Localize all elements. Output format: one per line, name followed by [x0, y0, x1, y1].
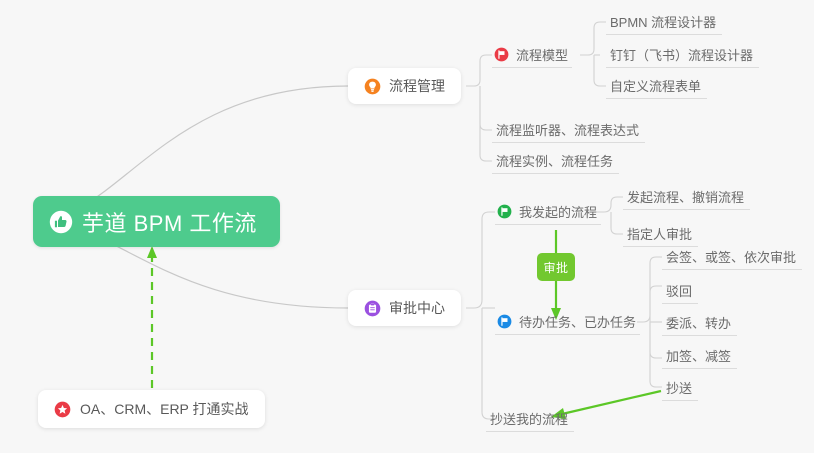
branch-node-process-management[interactable]: 流程管理 — [348, 68, 461, 104]
leaf-node-bpmn-designer[interactable]: BPMN 流程设计器 — [606, 9, 722, 35]
topic-label: 待办任务、已办任务 — [519, 312, 636, 331]
callout-label: OA、CRM、ERP 打通实战 — [80, 399, 249, 419]
clipboard-icon — [364, 300, 381, 317]
callout-card-integration[interactable]: OA、CRM、ERP 打通实战 — [38, 390, 265, 428]
root-label: 芋道 BPM 工作流 — [82, 206, 257, 238]
topic-node-process-model[interactable]: 流程模型 — [492, 42, 572, 68]
leaf-node-delegate-transfer[interactable]: 委派、转办 — [662, 310, 737, 336]
topic-node-my-initiated[interactable]: 我发起的流程 — [495, 199, 601, 225]
branch-label: 流程管理 — [389, 76, 445, 96]
leaf-node-custom-form[interactable]: 自定义流程表单 — [606, 73, 707, 99]
leaf-node-process-listener[interactable]: 流程监听器、流程表达式 — [492, 117, 645, 143]
star-icon — [54, 401, 71, 418]
flag-icon — [497, 314, 512, 329]
leaf-node-reject[interactable]: 驳回 — [662, 278, 698, 304]
integration-arrowhead — [147, 246, 157, 258]
root-node[interactable]: 芋道 BPM 工作流 — [33, 196, 280, 247]
leaf-node-start-cancel[interactable]: 发起流程、撤销流程 — [623, 184, 750, 210]
leaf-node-cc[interactable]: 抄送 — [662, 375, 698, 401]
leaf-node-dingtalk-designer[interactable]: 钉钉（飞书）流程设计器 — [606, 42, 759, 68]
leaf-node-countersign[interactable]: 会签、或签、依次审批 — [662, 244, 802, 270]
topic-label: 流程模型 — [516, 45, 568, 64]
annotation-chip-label: 审批 — [543, 259, 568, 276]
leaf-node-add-remove-sign[interactable]: 加签、减签 — [662, 343, 737, 369]
topic-label: 我发起的流程 — [519, 202, 597, 221]
flag-icon — [497, 204, 512, 219]
lightbulb-icon — [364, 78, 381, 95]
leaf-node-cc-to-me[interactable]: 抄送我的流程 — [486, 406, 574, 432]
flag-icon — [494, 47, 509, 62]
thumbs-up-icon — [49, 210, 73, 234]
annotation-chip-approval[interactable]: 审批 — [537, 253, 575, 281]
leaf-node-process-instance[interactable]: 流程实例、流程任务 — [492, 148, 619, 174]
branch-label: 审批中心 — [389, 298, 445, 318]
mindmap-canvas: 芋道 BPM 工作流 流程管理 流程模型 BPMN 流程设计器 钉钉（飞书）流程… — [0, 0, 814, 453]
topic-node-todo-done[interactable]: 待办任务、已办任务 — [495, 309, 640, 335]
branch-node-approval-center[interactable]: 审批中心 — [348, 290, 461, 326]
